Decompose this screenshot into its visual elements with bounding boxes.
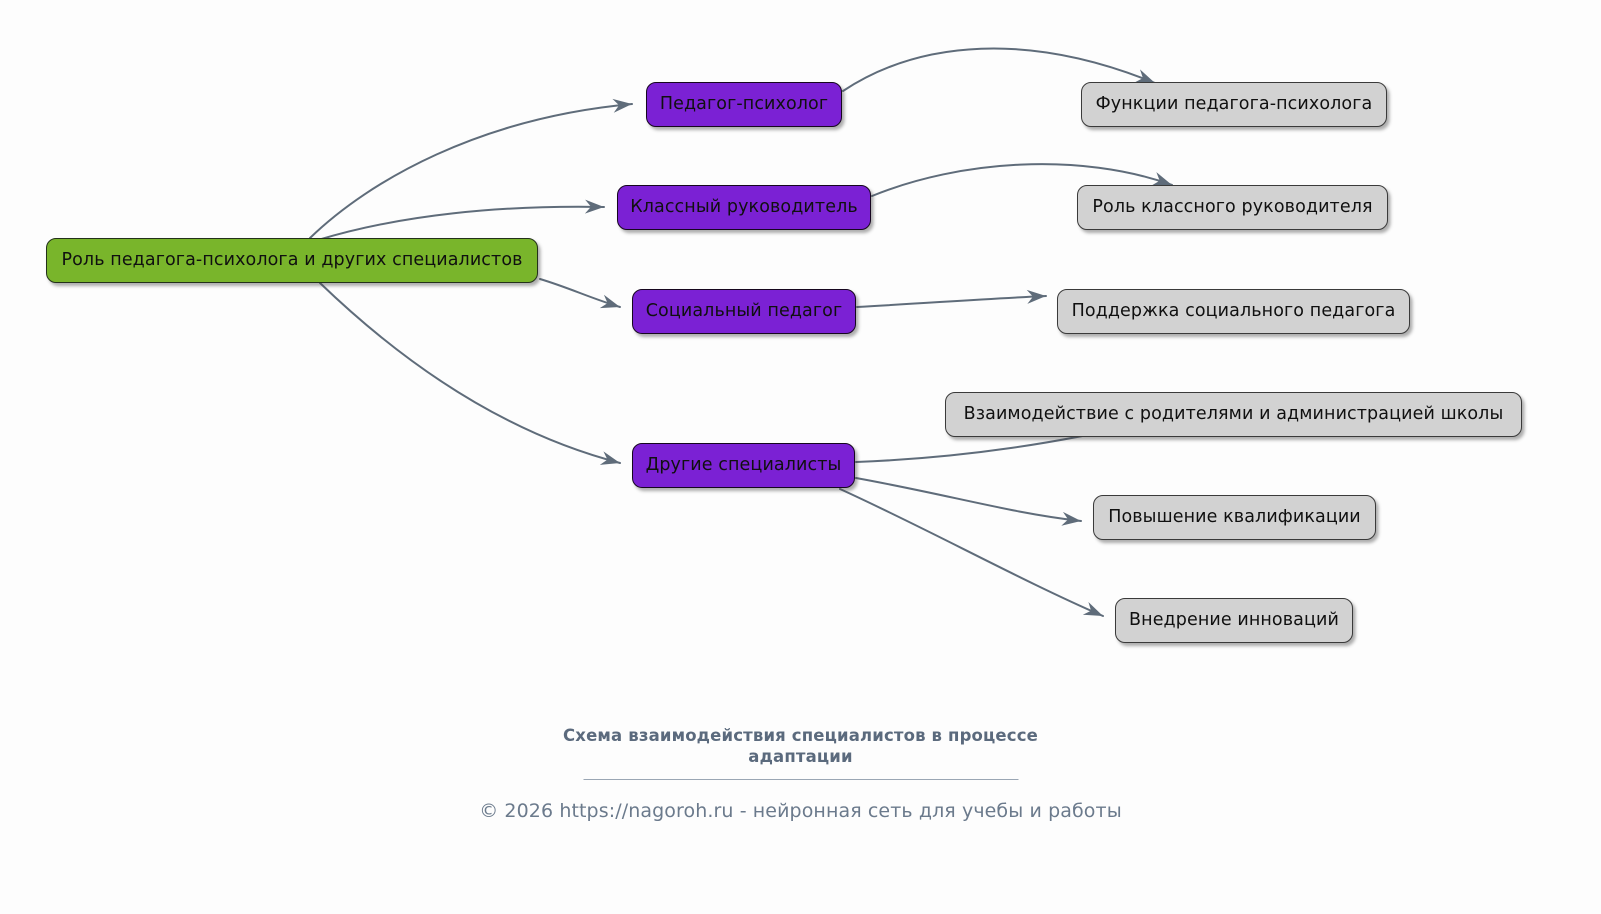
node-root[interactable]: Роль педагога-психолога и других специал… — [46, 238, 538, 283]
node-vzaimodeystvie[interactable]: Взаимодействие с родителями и администра… — [945, 392, 1522, 437]
edge-drugie_specialisty-to-vnedrenie — [840, 489, 1103, 616]
footer-title: Схема взаимодействия специалистов в проц… — [0, 725, 1601, 767]
node-label: Взаимодействие с родителями и администра… — [964, 406, 1504, 424]
node-label: Повышение квалификации — [1108, 509, 1361, 527]
edge-root-to-drugie_specialisty — [320, 283, 620, 465]
edge-drugie_specialisty-to-povyshenie — [856, 478, 1081, 526]
node-drugie_specialisty[interactable]: Другие специалисты — [632, 443, 855, 488]
node-label: Педагог-психолог — [660, 96, 828, 114]
node-label: Другие специалисты — [646, 457, 842, 475]
node-podderzhka[interactable]: Поддержка социального педагога — [1057, 289, 1410, 334]
footer-divider — [583, 779, 1018, 780]
edge-root-to-pedagog_psiholog — [310, 99, 632, 238]
edge-socialnyy_pedagog-to-podderzhka — [857, 290, 1046, 307]
node-label: Классный руководитель — [630, 199, 858, 217]
node-socialnyy_pedagog[interactable]: Социальный педагог — [632, 289, 856, 334]
footer-copyright: © 2026 https://nagoroh.ru - нейронная се… — [0, 800, 1601, 822]
diagram-canvas: Роль педагога-психолога и других специал… — [0, 0, 1601, 914]
node-label: Внедрение инноваций — [1129, 612, 1339, 630]
node-povyshenie[interactable]: Повышение квалификации — [1093, 495, 1376, 540]
footer-title-line-1: Схема взаимодействия специалистов в проц… — [563, 726, 1038, 745]
node-vnedrenie[interactable]: Внедрение инноваций — [1115, 598, 1353, 643]
node-rol_klassnogo[interactable]: Роль классного руководителя — [1077, 185, 1388, 230]
node-pedagog_psiholog[interactable]: Педагог-психолог — [646, 82, 842, 127]
node-label: Поддержка социального педагога — [1072, 303, 1396, 321]
node-label: Социальный педагог — [646, 303, 843, 321]
node-label: Функции педагога-психолога — [1096, 96, 1373, 114]
node-label: Роль педагога-психолога и других специал… — [61, 252, 522, 270]
node-funkcii[interactable]: Функции педагога-психолога — [1081, 82, 1387, 127]
node-label: Роль классного руководителя — [1092, 199, 1372, 217]
node-klassnyy_rukovoditel[interactable]: Классный руководитель — [617, 185, 871, 230]
edge-root-to-klassnyy_rukovoditel — [318, 200, 604, 240]
footer-title-line-2: адаптации — [748, 747, 852, 766]
edge-root-to-socialnyy_pedagog — [540, 279, 620, 308]
